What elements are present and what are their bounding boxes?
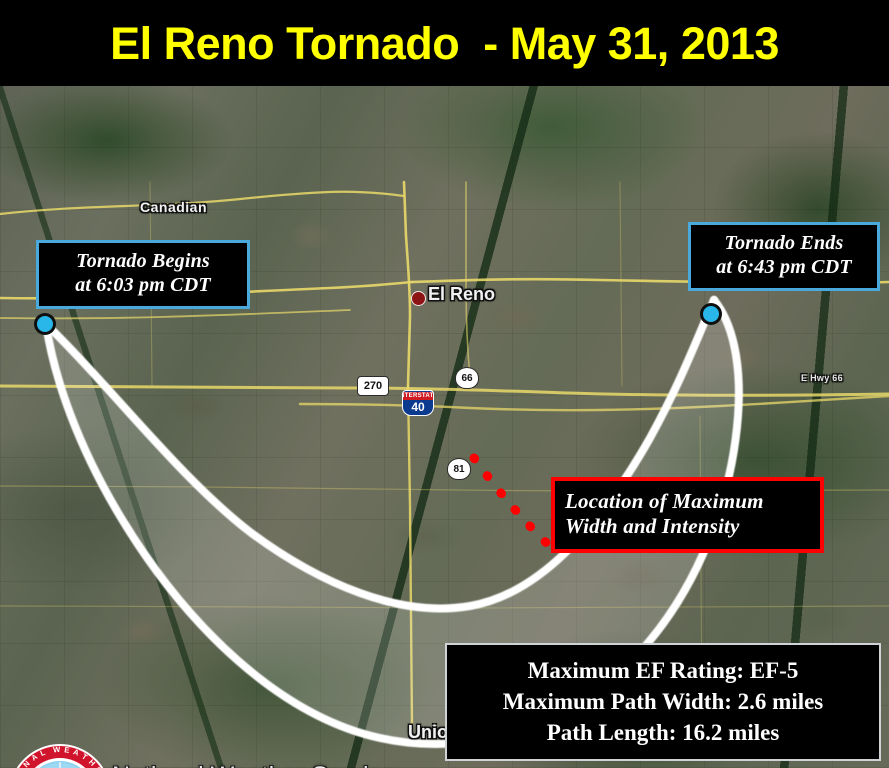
title-bar: El Reno Tornado - May 31, 2013 <box>0 0 889 86</box>
callout-tornado-begins: Tornado Begins at 6:03 pm CDT <box>36 240 250 309</box>
tornado-end-marker <box>700 303 722 325</box>
city-marker-el-reno <box>411 291 426 306</box>
stat-path-width: Maximum Path Width: 2.6 miles <box>447 689 879 715</box>
svg-text:W: W <box>53 745 62 755</box>
nws-logo: N A T I O N A L W E A T H E R S E R V I <box>8 743 112 768</box>
page-title: El Reno Tornado - May 31, 2013 <box>110 21 779 66</box>
tornado-start-marker <box>34 313 56 335</box>
callout-max-width: Location of Maximum Width and Intensity <box>551 477 824 553</box>
highway-shield-us-66: 66 <box>455 367 479 389</box>
stat-path-length: Path Length: 16.2 miles <box>447 720 879 746</box>
interstate-shield-number: 40 <box>411 400 424 415</box>
highway-shield-us-81: 81 <box>447 458 471 480</box>
callout-tornado-ends: Tornado Ends at 6:43 pm CDT <box>688 222 880 291</box>
highway-shield-us-270: 270 <box>357 376 389 396</box>
tornado-stats-box: Maximum EF Rating: EF-5 Maximum Path Wid… <box>445 643 881 761</box>
stat-ef-rating: Maximum EF Rating: EF-5 <box>447 658 879 684</box>
credit-line-1: National Weather Service <box>112 762 395 768</box>
nws-office-credit: National Weather Service Norman Forecast… <box>112 762 395 768</box>
interstate-shield-banner: INTERSTATE <box>403 392 433 400</box>
tornado-path-graphic: El Reno Tornado - May 31, 2013 <box>0 0 889 768</box>
highway-shield-interstate-40: INTERSTATE 40 <box>402 390 434 416</box>
